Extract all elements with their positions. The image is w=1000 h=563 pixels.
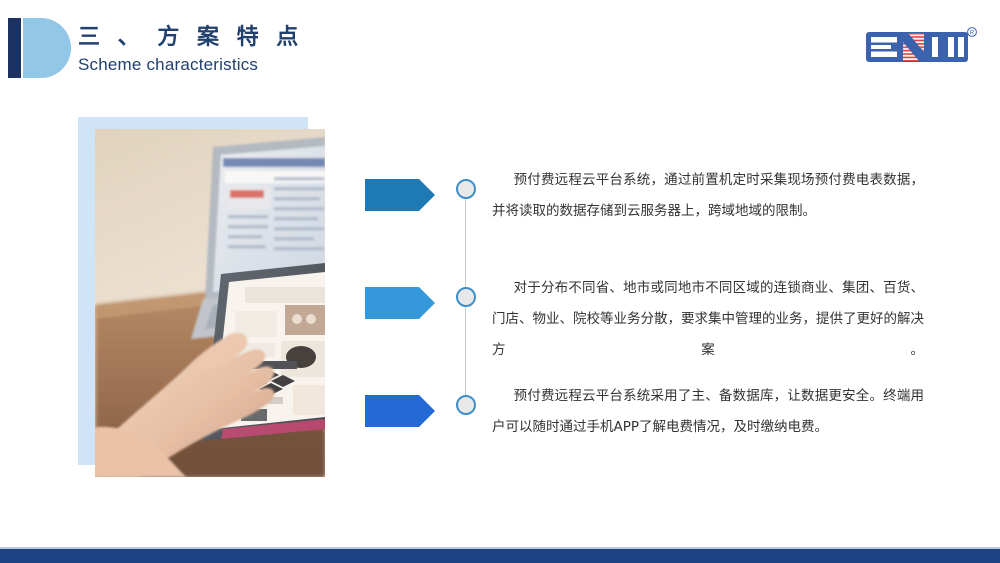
timeline-item-text: 预付费远程云平台系统采用了主、备数据库，让数据更安全。终端用户可以随时通过手机A… bbox=[492, 381, 924, 443]
brand-logo-ent: R bbox=[862, 26, 978, 66]
header-accent-bar-icon bbox=[8, 18, 21, 78]
page-title: 三 、 方 案 特 点 Scheme characteristics bbox=[78, 24, 303, 76]
header-d-shape-icon bbox=[23, 18, 71, 78]
timeline-node-dot bbox=[456, 179, 476, 199]
svg-text:R: R bbox=[970, 31, 975, 37]
footer-bar bbox=[0, 549, 1000, 563]
timeline-node-dot bbox=[456, 395, 476, 415]
page-title-en: Scheme characteristics bbox=[78, 53, 303, 76]
timeline-node-dot bbox=[456, 287, 476, 307]
timeline-item-text: 对于分布不同省、地市或同地市不同区域的连锁商业、集团、百货、门店、物业、院校等业… bbox=[492, 273, 924, 397]
timeline-item-text: 预付费远程云平台系统，通过前置机定时采集现场预付费电表数据，并将读取的数据存储到… bbox=[492, 165, 924, 227]
page-title-cn: 三 、 方 案 特 点 bbox=[78, 24, 303, 52]
arrow-marker-icon bbox=[365, 179, 435, 211]
arrow-marker-icon bbox=[365, 395, 435, 427]
arrow-marker-icon bbox=[365, 287, 435, 319]
photo-tablet-hand bbox=[95, 129, 325, 477]
